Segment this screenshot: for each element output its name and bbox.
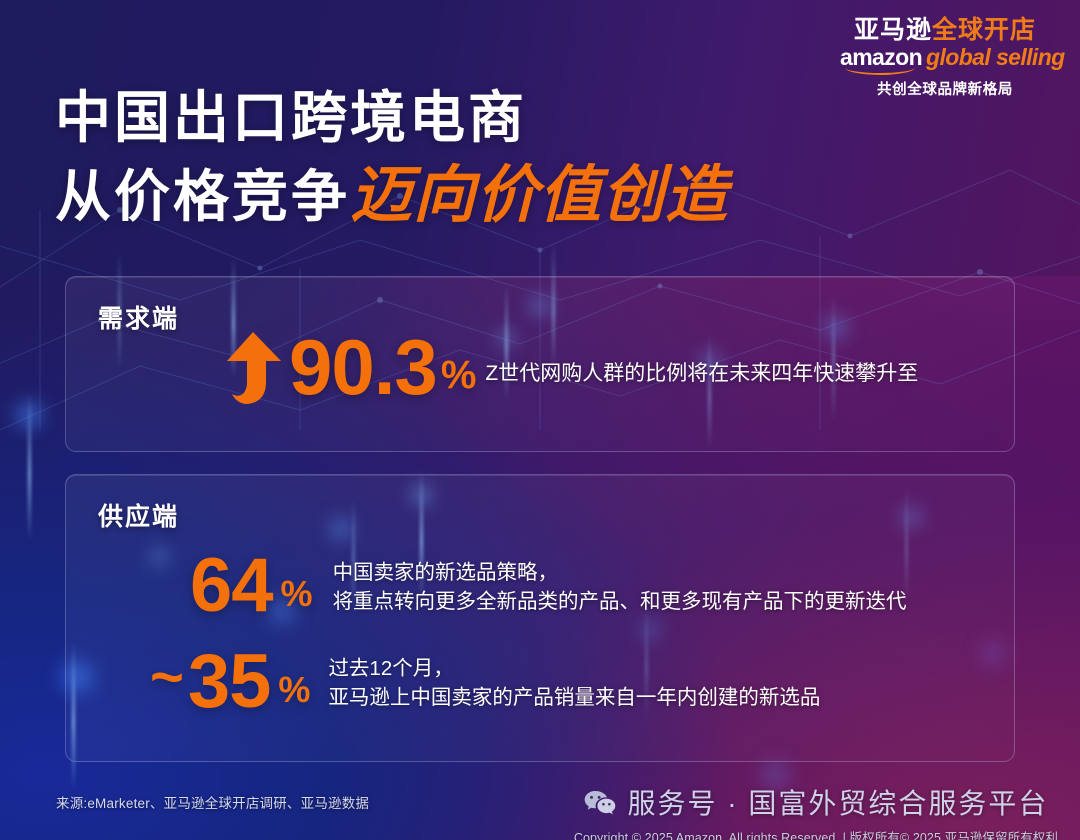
supply-stat-row-64: 64 % 中国卖家的新选品策略， 将重点转向更多全新品类的产品、和更多现有产品下… [190,552,907,620]
infographic-poster: 亚马逊全球开店 amazon global selling 共创全球品牌新格局 … [0,0,1080,840]
supply-desc-35-line1: 过去12个月， [328,654,820,683]
demand-card-label: 需求端 [98,299,179,335]
supply-approx-prefix: ~ [150,644,184,711]
logo-global-selling-cn: 全球开店 [932,16,1036,44]
supply-stat-row-35: ~ 35 % 过去12个月， 亚马逊上中国卖家的产品销量来自一年内创建的新选品 [150,648,820,716]
headline-line-2-plain: 从价格竞争 [55,165,350,228]
arrow-up-icon [225,330,283,404]
supply-percent-sign-35: % [278,674,310,706]
amazon-global-selling-logo: 亚马逊全球开店 amazon global selling 共创全球品牌新格局 [840,18,1050,98]
logo-chinese-line: 亚马逊全球开店 [840,18,1050,43]
demand-value: 90.3 [289,332,437,402]
wechat-account-bar: 服务号 · 国富外贸综合服务平台 Copyright © 2025 Amazon… [574,782,1058,840]
logo-english-line: amazon global selling [840,46,1050,75]
supply-value-64: 64 [190,552,273,620]
logo-amazon-cn: 亚马逊 [854,16,932,44]
supply-desc-64-line1: 中国卖家的新选品策略， [333,558,907,587]
wechat-icon [583,789,617,815]
supply-desc-64-line2: 将重点转向更多全新品类的产品、和更多现有产品下的更新迭代 [333,587,907,616]
page-title: 中国出口跨境电商 从价格竞争迈向价值创造 [55,86,728,231]
logo-tagline: 共创全球品牌新格局 [840,83,1050,98]
demand-stat-row: 90.3 % Z世代网购人群的比例将在未来四年快速攀升至 [225,330,918,404]
supply-desc-35-line2: 亚马逊上中国卖家的产品销量来自一年内创建的新选品 [328,683,820,712]
headline-line-2-accent: 迈向价值创造 [350,158,728,231]
demand-description: Z世代网购人群的比例将在未来四年快速攀升至 [485,359,918,389]
supply-percent-sign-64: % [281,578,313,610]
logo-amazon-wordmark: amazon [840,46,922,75]
supply-card-label: 供应端 [98,497,179,533]
supply-description-35: 过去12个月， 亚马逊上中国卖家的产品销量来自一年内创建的新选品 [328,654,820,712]
wechat-account-name: 服务号 · 国富外贸综合服务平台 [627,782,1048,822]
headline-line-2: 从价格竞争迈向价值创造 [55,159,728,231]
wechat-account-row: 服务号 · 国富外贸综合服务平台 [583,782,1048,822]
logo-global-selling-text: global selling [926,44,1065,70]
source-note: 来源:eMarketer、亚马逊全球开店调研、亚马逊数据 [56,792,369,812]
supply-value-35: 35 [188,648,271,716]
demand-percent-sign: % [441,357,477,393]
supply-description-64: 中国卖家的新选品策略， 将重点转向更多全新品类的产品、和更多现有产品下的更新迭代 [333,558,907,616]
headline-line-1: 中国出口跨境电商 [55,86,728,151]
amazon-smile-icon [845,66,915,75]
copyright-text: Copyright © 2025 Amazon. All rights Rese… [574,827,1058,840]
